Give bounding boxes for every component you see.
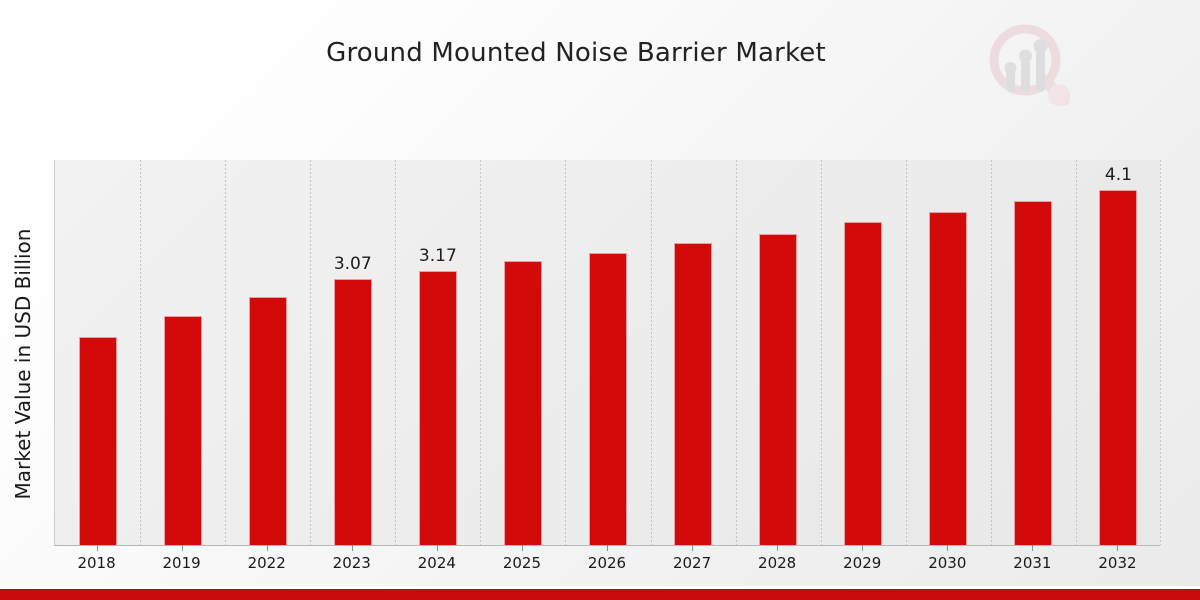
bar-2024[interactable] (419, 271, 457, 545)
x-axis-tick (522, 545, 523, 551)
x-axis-tick-label-2030: 2030 (928, 554, 966, 572)
bar-value-label-2023: 3.07 (334, 254, 372, 274)
plot-area: 3.073.174.1 (54, 160, 1160, 545)
bar-slot (929, 160, 967, 545)
x-axis-tick (182, 545, 183, 551)
bar-slot (674, 160, 712, 545)
bar-slot (164, 160, 202, 545)
x-axis-tick (692, 545, 693, 551)
grid-line (565, 160, 566, 545)
x-axis-tick-label-2031: 2031 (1013, 554, 1051, 572)
x-axis-tick (1032, 545, 1033, 551)
x-axis-tick (97, 545, 98, 551)
bar-slot (249, 160, 287, 545)
bar-2027[interactable] (674, 243, 712, 545)
y-axis-label: Market Value in USD Billion (11, 129, 35, 599)
bar-2023[interactable] (334, 279, 372, 545)
grid-line (1160, 160, 1161, 545)
grid-line (736, 160, 737, 545)
x-axis-tick-label-2027: 2027 (673, 554, 711, 572)
chart-figure: Ground Mounted Noise Barrier Market Mark… (0, 0, 1200, 600)
x-axis-tick-label-2024: 2024 (418, 554, 456, 572)
bar-slot (589, 160, 627, 545)
grid-line (821, 160, 822, 545)
x-axis-tick-label-2025: 2025 (503, 554, 541, 572)
bar-slot (79, 160, 117, 545)
bar-slot: 3.17 (419, 160, 457, 545)
bar-2022[interactable] (249, 297, 287, 545)
bar-value-label-2032: 4.1 (1105, 165, 1132, 185)
bar-slot (844, 160, 882, 545)
bar-slot: 3.07 (334, 160, 372, 545)
bar-2026[interactable] (589, 253, 627, 545)
x-axis-tick (352, 545, 353, 551)
bar-slot (759, 160, 797, 545)
grid-line (225, 160, 226, 545)
bar-slot: 4.1 (1099, 160, 1137, 545)
x-axis-tick-label-2022: 2022 (248, 554, 286, 572)
grid-line (310, 160, 311, 545)
x-axis-tick-label-2028: 2028 (758, 554, 796, 572)
grid-line (991, 160, 992, 545)
bar-2031[interactable] (1014, 201, 1052, 545)
bar-2018[interactable] (79, 337, 117, 546)
bar-2028[interactable] (759, 234, 797, 545)
x-axis-tick-label-2023: 2023 (333, 554, 371, 572)
bar-value-label-2024: 3.17 (419, 246, 457, 266)
grid-line (1076, 160, 1077, 545)
x-axis-tick (1117, 545, 1118, 551)
x-axis-tick (607, 545, 608, 551)
bar-slot (1014, 160, 1052, 545)
bar-2025[interactable] (504, 261, 542, 545)
bar-2019[interactable] (164, 316, 202, 545)
page-title: Ground Mounted Noise Barrier Market (0, 38, 1152, 68)
grid-line (906, 160, 907, 545)
x-axis-tick (777, 545, 778, 551)
x-axis-tick (437, 545, 438, 551)
grid-line (480, 160, 481, 545)
x-axis-tick-label-2029: 2029 (843, 554, 881, 572)
x-axis-tick-label-2026: 2026 (588, 554, 626, 572)
grid-line (140, 160, 141, 545)
bar-2030[interactable] (929, 212, 967, 545)
bar-slot (504, 160, 542, 545)
x-axis-tick (862, 545, 863, 551)
x-axis-tick (267, 545, 268, 551)
bar-2032[interactable] (1099, 190, 1137, 545)
grid-line (395, 160, 396, 545)
x-axis-tick-label-2018: 2018 (77, 554, 115, 572)
x-axis-line: 2018201920222023202420252026202720282029… (54, 545, 1160, 546)
grid-line (651, 160, 652, 545)
footer-accent-band (0, 589, 1200, 600)
bar-2029[interactable] (844, 222, 882, 545)
x-axis-tick-label-2019: 2019 (163, 554, 201, 572)
x-axis-tick (947, 545, 948, 551)
x-axis-tick-label-2032: 2032 (1098, 554, 1136, 572)
